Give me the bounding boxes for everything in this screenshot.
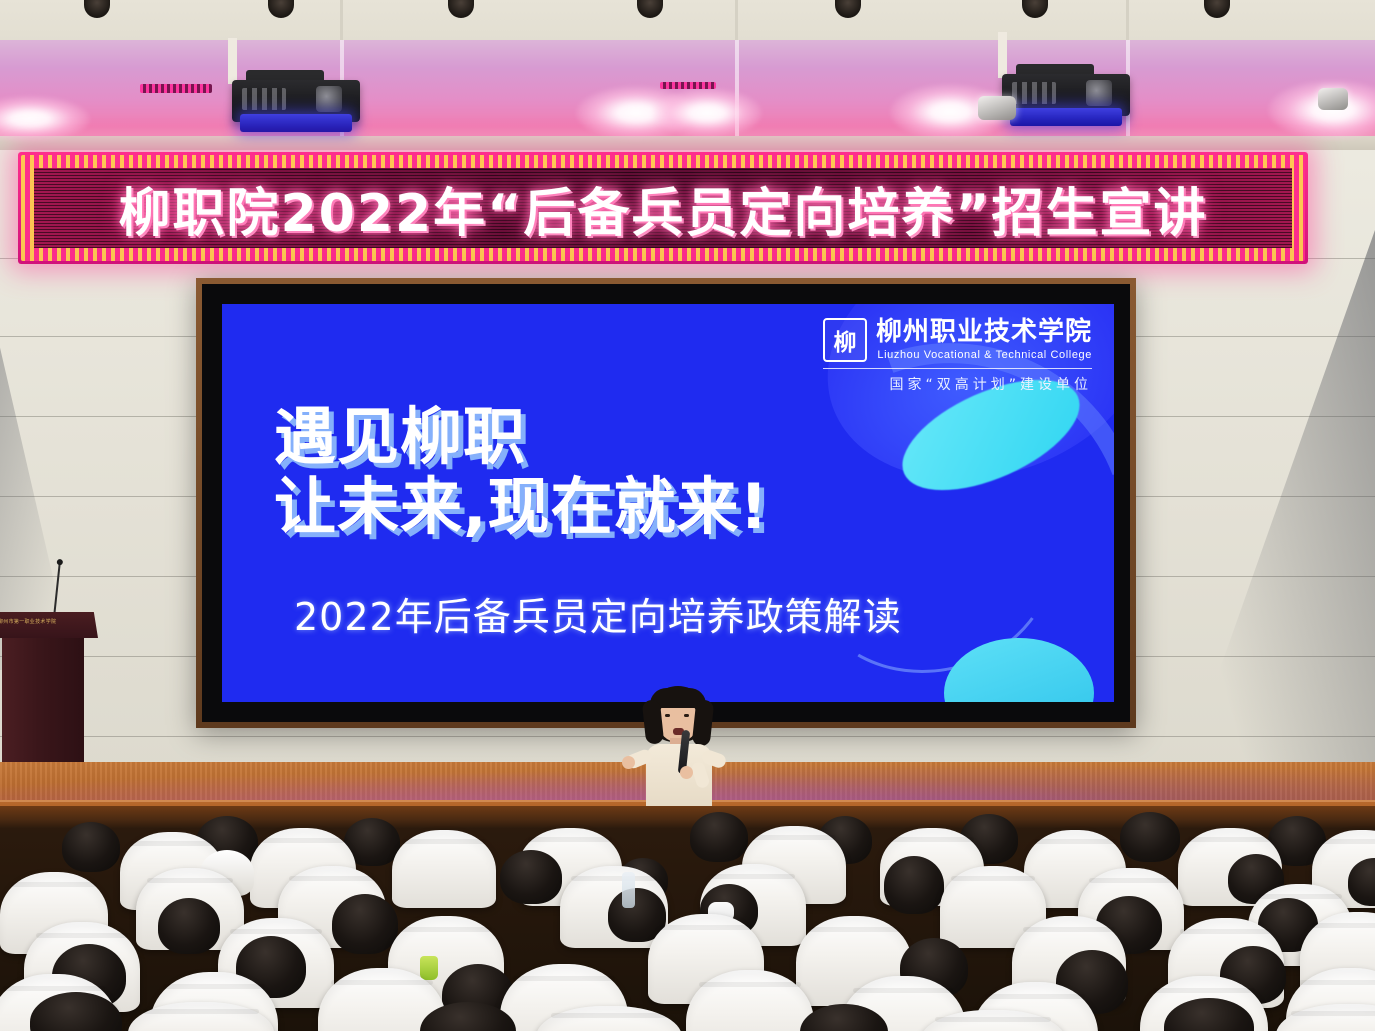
audience-head bbox=[62, 822, 120, 872]
auditorium-photo: 柳职院2022年“后备兵员定向培养”招生宣讲 柳 柳州职业技术学院 Liuzho… bbox=[0, 0, 1375, 1031]
lectern-top: 柳州市第一职业技术学院 bbox=[0, 612, 98, 638]
audience-head bbox=[690, 812, 748, 862]
school-logo-mark: 柳 bbox=[823, 318, 867, 362]
led-banner-panel: 柳职院2022年“后备兵员定向培养”招生宣讲 bbox=[34, 168, 1292, 248]
audience-area bbox=[0, 806, 1375, 1031]
green-cup bbox=[420, 956, 438, 980]
school-name-en: Liuzhou Vocational & Technical College bbox=[876, 349, 1092, 361]
projector-vents bbox=[1012, 82, 1056, 104]
audience-seat bbox=[392, 830, 496, 908]
lectern-body bbox=[2, 638, 84, 774]
presenter-eye bbox=[684, 714, 689, 717]
lectern-plaque-text: 柳州市第一职业技术学院 bbox=[0, 618, 56, 625]
presenter-hair-side bbox=[692, 699, 715, 747]
ceiling-seam bbox=[735, 0, 738, 42]
logo-divider bbox=[823, 368, 1092, 369]
projector-lens-icon bbox=[1086, 80, 1112, 106]
audience-head bbox=[332, 894, 398, 954]
spotlight-glow bbox=[652, 88, 762, 138]
school-name-cn: 柳州职业技术学院 bbox=[876, 317, 1092, 347]
water-bottle bbox=[622, 872, 635, 908]
projector-indicator-light bbox=[1010, 108, 1122, 126]
projector-indicator-light bbox=[240, 114, 352, 132]
presenter-hand bbox=[622, 756, 635, 769]
led-banner: 柳职院2022年“后备兵员定向培养”招生宣讲 bbox=[18, 152, 1308, 264]
presentation-slide: 柳 柳州职业技术学院 Liuzhou Vocational & Technica… bbox=[222, 304, 1114, 702]
led-banner-text: 柳职院2022年“后备兵员定向培养”招生宣讲 bbox=[118, 171, 1207, 246]
presenter-hand bbox=[680, 766, 693, 779]
projector-mount-pole bbox=[228, 38, 237, 84]
school-logo: 柳 柳州职业技术学院 Liuzhou Vocational & Technica… bbox=[823, 318, 1092, 394]
audience-head bbox=[500, 850, 562, 904]
ceiling-panel bbox=[0, 0, 1375, 42]
presenter-eye bbox=[665, 714, 670, 717]
slide-subtitle: 2022年后备兵员定向培养政策解读 bbox=[294, 586, 902, 641]
ceiling-seam bbox=[1126, 0, 1129, 42]
projector-lens-icon bbox=[316, 86, 342, 112]
ceiling-seam bbox=[340, 0, 343, 42]
stage-spotlight-fixture bbox=[1318, 88, 1348, 110]
audience-head bbox=[158, 898, 220, 954]
projector-mount-pole bbox=[998, 32, 1007, 78]
ceiling-led-strip bbox=[660, 82, 716, 89]
audience-head bbox=[1120, 812, 1180, 862]
stage-spotlight-fixture bbox=[978, 96, 1016, 120]
ceiling-led-strip bbox=[140, 84, 212, 93]
slide-headline-line2: 让未来,现在就来! bbox=[274, 456, 769, 546]
projector-vents bbox=[242, 88, 286, 110]
school-tagline: 国家“双高计划”建设单位 bbox=[823, 374, 1092, 394]
audience-head bbox=[884, 856, 944, 914]
